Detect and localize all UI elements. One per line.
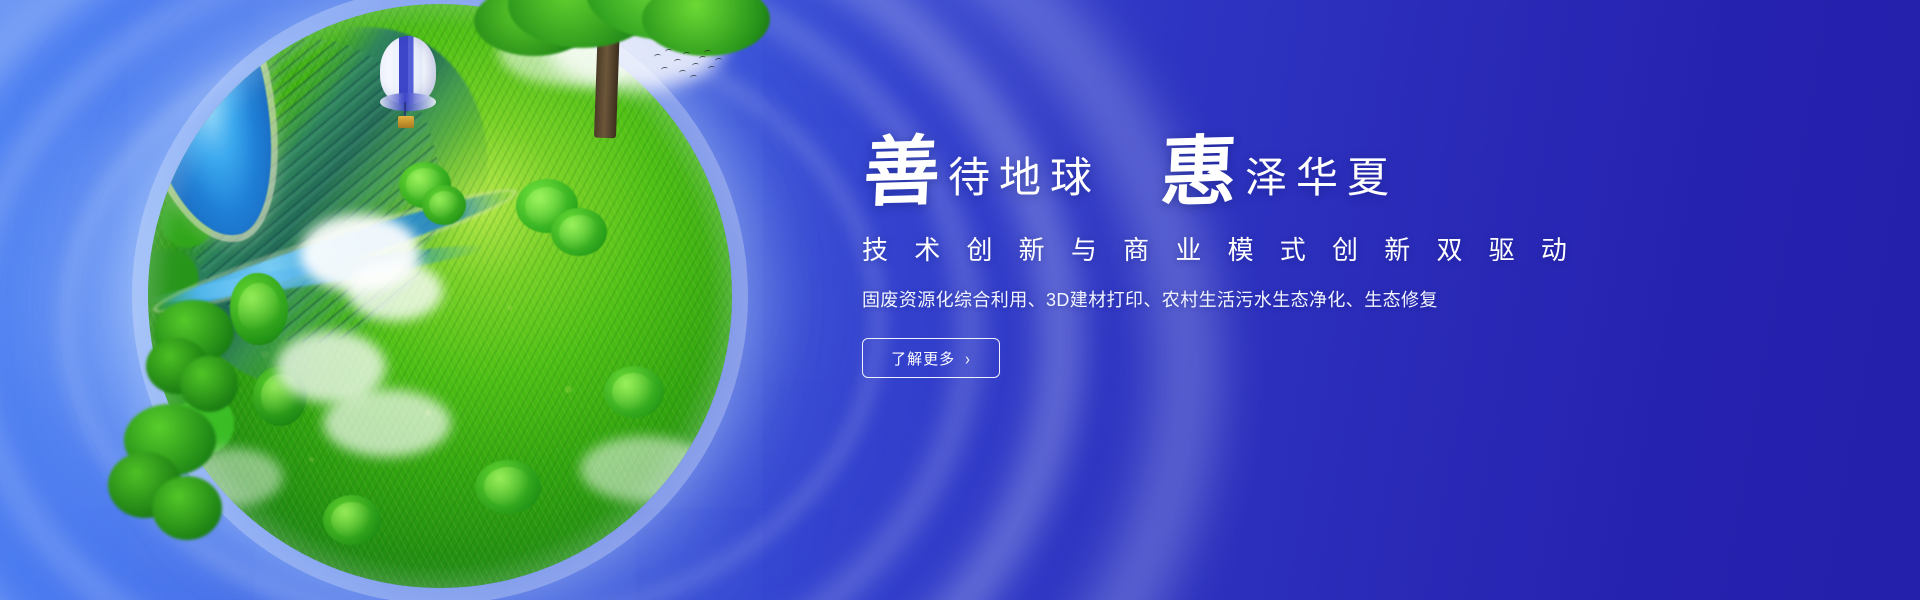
cloud-icon [580, 436, 710, 502]
hero-copy: 善 待地球 惠 泽华夏 技 术 创 新 与 商 业 模 式 创 新 双 驱 动 … [862, 132, 1562, 378]
chevron-right-icon: › [965, 348, 971, 368]
balloon-basket [398, 116, 414, 128]
page-title: 善 待地球 惠 泽华夏 [862, 132, 1562, 208]
headline-text-daidiqiu: 待地球 [948, 158, 1101, 200]
learn-more-button[interactable]: 了解更多 › [862, 338, 1000, 378]
tree-canopy-icon [323, 495, 381, 545]
hero-description: 固废资源化综合利用、3D建材打印、农村生活污水生态净化、生态修复 [862, 286, 1562, 312]
hero-banner: 善 待地球 惠 泽华夏 技 术 创 新 与 商 业 模 式 创 新 双 驱 动 … [0, 0, 1920, 600]
balloon-envelope [380, 36, 436, 104]
tree-canopy-icon [475, 460, 541, 514]
bird-flock-icon [652, 48, 724, 88]
headline-char-shan: 善 [862, 134, 941, 212]
hero-subtitle: 技 术 创 新 与 商 业 模 式 创 新 双 驱 动 [862, 230, 1562, 267]
tree-canopy-icon [604, 366, 664, 418]
cloud-icon [347, 261, 443, 321]
headline-char-hui: 惠 [1159, 134, 1238, 212]
headline-text-zehuaxia: 泽华夏 [1245, 158, 1398, 200]
learn-more-label: 了解更多 [891, 348, 955, 369]
foreground-tree-icon [108, 404, 228, 554]
hot-air-balloon-icon [380, 36, 436, 132]
